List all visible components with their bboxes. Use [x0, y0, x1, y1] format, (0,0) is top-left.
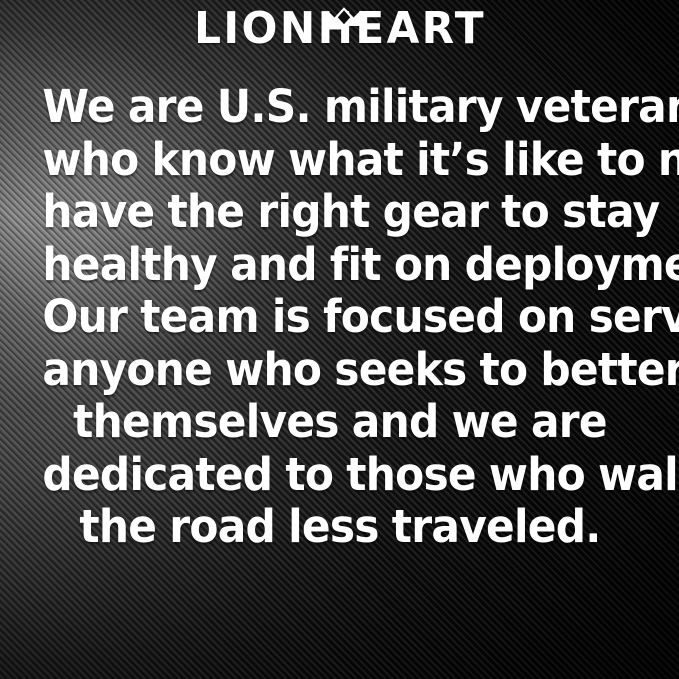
statement-line: We are U.S. military veterans — [42, 81, 637, 134]
brand-logo: LIONHEART — [0, 7, 679, 51]
statement-line: anyone who seeks to better — [42, 344, 637, 397]
poster-content: LIONHEART We are U.S. military veterans … — [0, 0, 679, 679]
statement-line: have the right gear to stay — [42, 186, 637, 239]
brand-statement-text: We are U.S. military veterans who know w… — [42, 81, 637, 554]
statement-line: themselves and we are — [42, 396, 637, 449]
crown-icon — [327, 5, 361, 27]
statement-line: the road less traveled. — [42, 501, 637, 554]
statement-line: healthy and fit on deployment. — [42, 239, 637, 292]
brand-statement-poster: LIONHEART We are U.S. military veterans … — [0, 0, 679, 679]
statement-line: dedicated to those who walk — [42, 449, 637, 502]
statement-line: Our team is focused on serving — [42, 291, 637, 344]
statement-line: who know what it’s like to not — [42, 134, 637, 187]
